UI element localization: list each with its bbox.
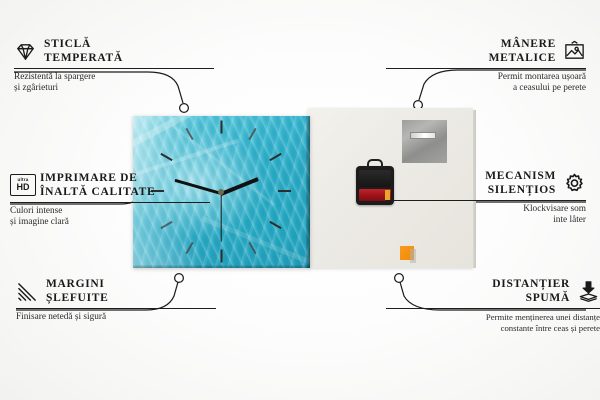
feature-title: MECANISM SILENȚIOS [485, 170, 556, 197]
feature-subtitle: Permite menținerea unei distanțe constan… [386, 312, 600, 333]
feature-subtitle: Culori intense și imagine clară [10, 206, 210, 229]
diamond-icon [14, 40, 37, 63]
feature-high-quality-print: ultra HD IMPRIMARE DE ÎNALTĂ CALITATE Cu… [10, 172, 210, 229]
feature-subtitle: Finisare netedă și sigură [16, 312, 216, 323]
hands-cap [218, 189, 224, 195]
feature-header: MÂNERE METALICE [386, 38, 586, 65]
gear-icon [563, 172, 586, 195]
feature-subtitle: Rezistentă la spargere și zgârieturi [14, 72, 214, 95]
ultra-hd-icon: ultra HD [10, 174, 33, 197]
picture-hanger-icon [563, 40, 586, 63]
feature-header: MECANISM SILENȚIOS [386, 170, 586, 197]
feature-header: STICLĂ TEMPERATĂ [14, 38, 214, 65]
mechanism-hook [367, 159, 383, 168]
metal-hanger [402, 120, 447, 163]
second-hand [220, 193, 221, 242]
glass-bottom-edge [133, 265, 310, 268]
diagonal-lines-icon [16, 280, 39, 303]
infographic-canvas: STICLĂ TEMPERATĂ Rezistentă la spargere … [0, 0, 600, 400]
divider [16, 308, 216, 309]
feature-subtitle: Permit montarea ușoară a ceasului pe per… [386, 72, 586, 95]
feature-silent-mechanism: MECANISM SILENȚIOS Klockvisare som inte … [386, 170, 586, 227]
glass-edge [306, 116, 310, 268]
hanger-slot [410, 132, 436, 139]
feature-polished-edges: MARGINI ȘLEFUITE Finisare netedă și sigu… [16, 278, 216, 323]
feature-header: ultra HD IMPRIMARE DE ÎNALTĂ CALITATE [10, 172, 210, 199]
feature-header: MARGINI ȘLEFUITE [16, 278, 216, 305]
divider [386, 200, 586, 201]
feature-header: DISTANȚIER SPUMĂ [386, 278, 600, 305]
foam-spacer-icon [577, 280, 600, 303]
feature-title: IMPRIMARE DE ÎNALTĂ CALITATE [40, 172, 155, 199]
divider [14, 68, 214, 69]
divider [386, 68, 586, 69]
feature-foam-spacer: DISTANȚIER SPUMĂ Permite menținerea unei… [386, 278, 600, 333]
feature-title: STICLĂ TEMPERATĂ [44, 38, 123, 65]
divider [386, 308, 600, 309]
feature-title: MÂNERE METALICE [489, 38, 556, 65]
foam-spacer [400, 246, 414, 260]
hour-hand [220, 177, 259, 196]
feature-subtitle: Klockvisare som inte låter [386, 204, 586, 227]
feature-tempered-glass: STICLĂ TEMPERATĂ Rezistentă la spargere … [14, 38, 214, 95]
divider [10, 202, 210, 203]
feature-metal-handles: MÂNERE METALICE Permit montarea ușoară a… [386, 38, 586, 95]
feature-title: MARGINI ȘLEFUITE [46, 278, 108, 305]
feature-title: DISTANȚIER SPUMĂ [492, 278, 570, 305]
